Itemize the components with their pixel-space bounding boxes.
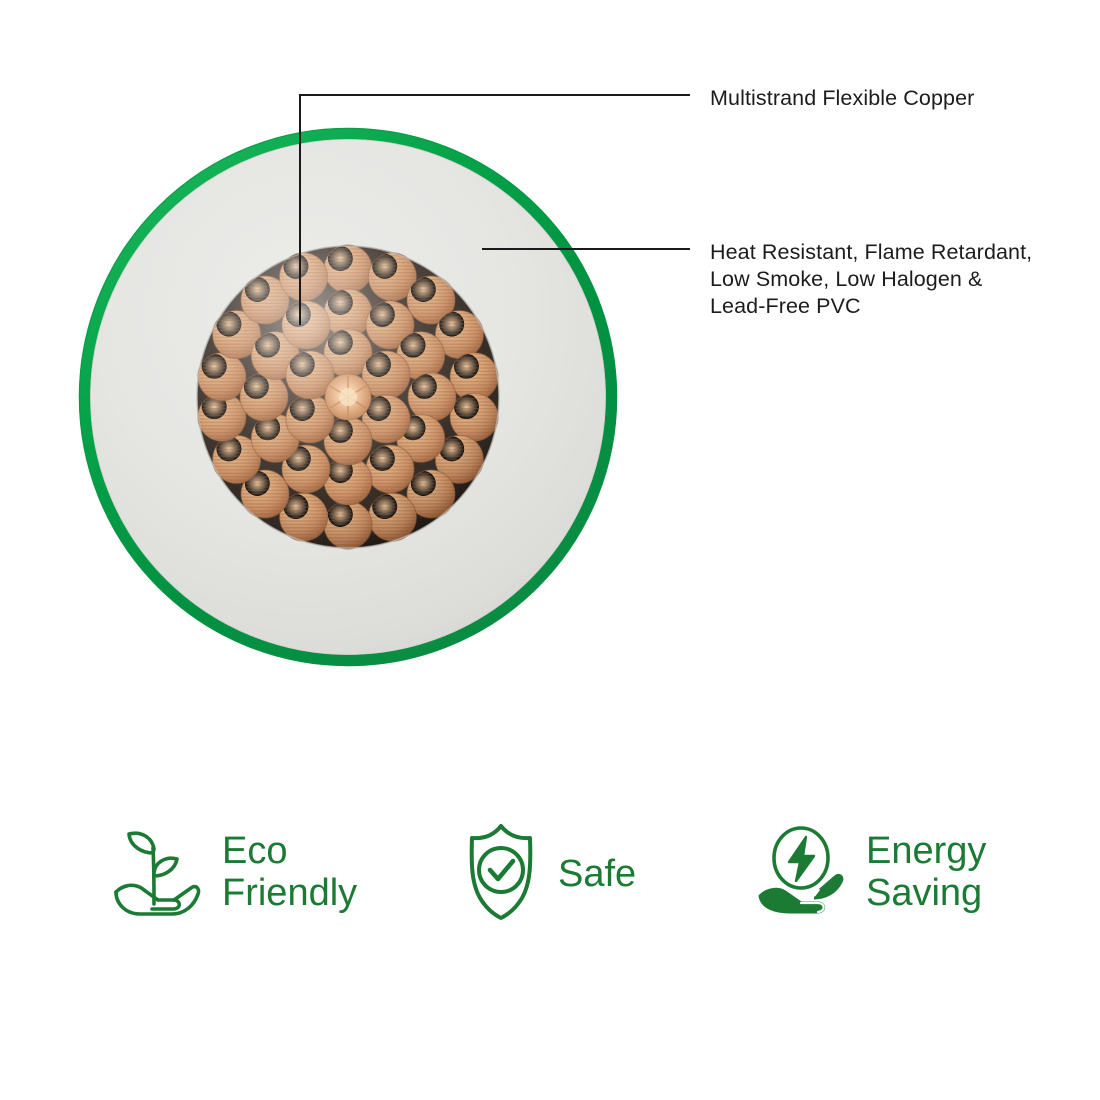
- feature-badge-energy-saving: Energy Saving: [756, 812, 986, 932]
- feature-label-energy-saving: Energy Saving: [866, 830, 986, 914]
- shield-check-icon: [462, 822, 540, 927]
- callout-label-pvc: Heat Resistant, Flame Retardant, Low Smo…: [710, 239, 1032, 320]
- feature-badge-row: Eco Friendly Safe: [0, 812, 1100, 942]
- bundle-gloss-overlay: [197, 246, 499, 548]
- diagram-canvas: Multistrand Flexible Copper Heat Resista…: [0, 0, 1100, 1100]
- feature-label-eco-friendly: Eco Friendly: [222, 830, 357, 914]
- feature-badge-eco-friendly: Eco Friendly: [112, 812, 357, 932]
- bolt-in-hand-icon: [756, 820, 848, 925]
- callout-label-copper: Multistrand Flexible Copper: [710, 85, 974, 112]
- conductor-bundle-layer: [197, 245, 499, 549]
- feature-badge-safe: Safe: [462, 814, 636, 934]
- plant-in-hand-icon: [112, 820, 204, 925]
- feature-label-safe: Safe: [558, 853, 636, 895]
